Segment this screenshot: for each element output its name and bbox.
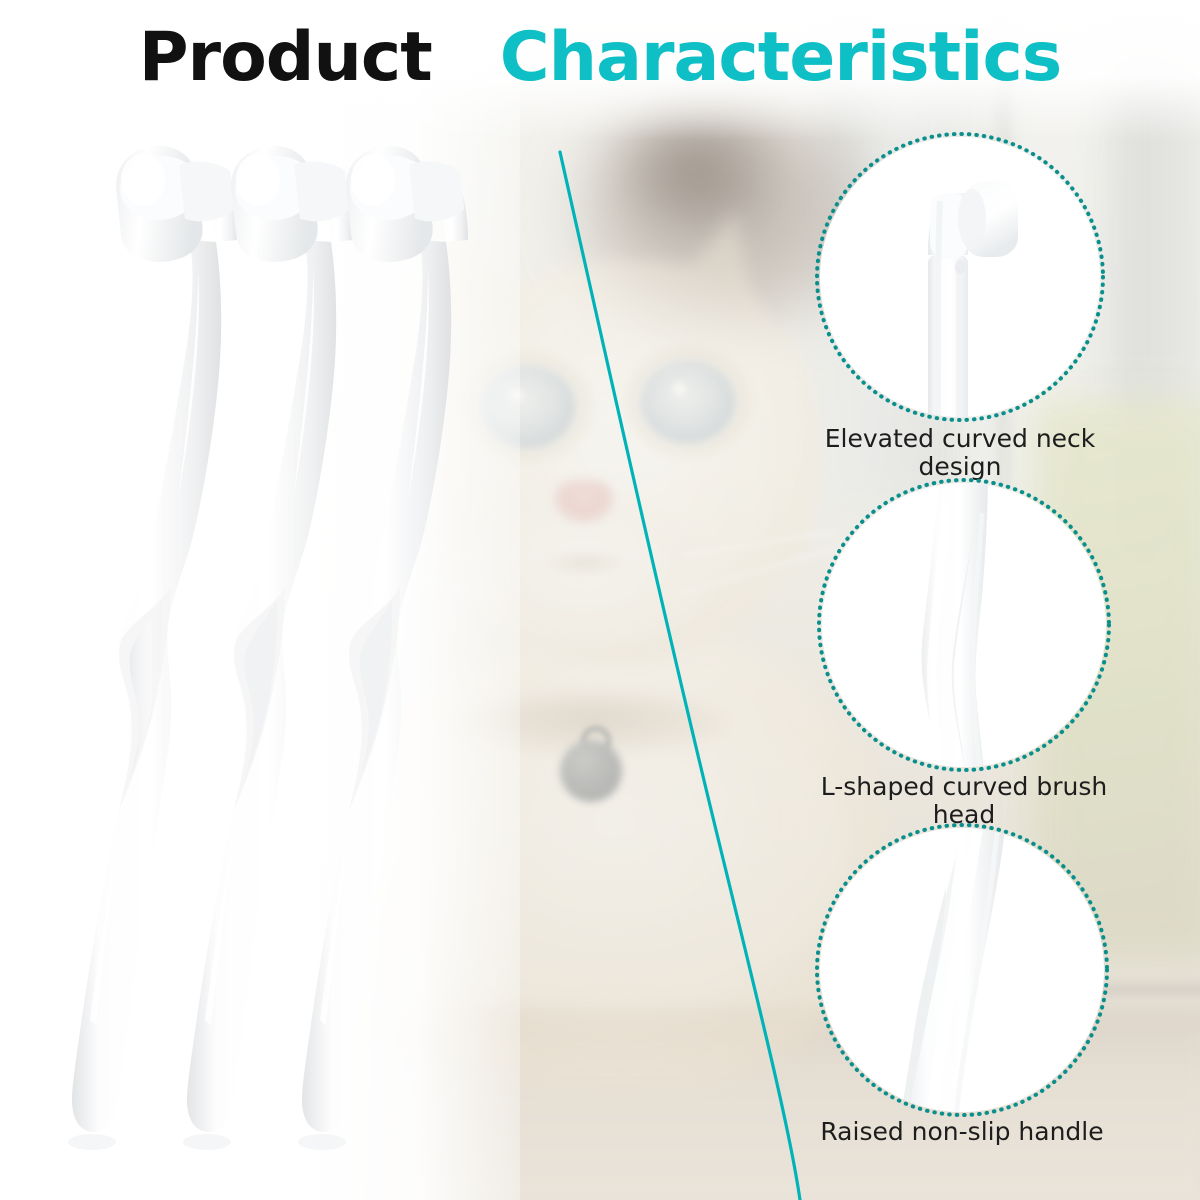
toothbrush-3 (250, 120, 470, 1160)
cat-eye-highlight-right (672, 382, 686, 396)
callout-brush-head-caption: L-shaped curved brush head (798, 773, 1130, 829)
callout-neck-caption-line1: Elevated curved neck (800, 425, 1120, 453)
callout-brush-head-caption-line1: L-shaped curved brush (798, 773, 1130, 801)
callout-handle-caption: Raised non-slip handle (796, 1118, 1128, 1146)
callout-neck-caption: Elevated curved neck design (800, 425, 1120, 481)
cat-eye-right (640, 360, 736, 444)
callout-handle-dotted-ring (814, 822, 1110, 1118)
product-group (0, 120, 580, 1180)
callout-neck-dotted-ring (814, 131, 1106, 423)
callout-brush-head-dotted-ring (816, 477, 1112, 773)
product-feature-banner: Product Characteristics (0, 0, 1200, 1200)
callout-handle-caption-line1: Raised non-slip handle (796, 1118, 1128, 1146)
title-accent: Characteristics (500, 18, 1061, 97)
title-primary: Product (139, 18, 432, 97)
page-title: Product Characteristics (0, 24, 1200, 92)
